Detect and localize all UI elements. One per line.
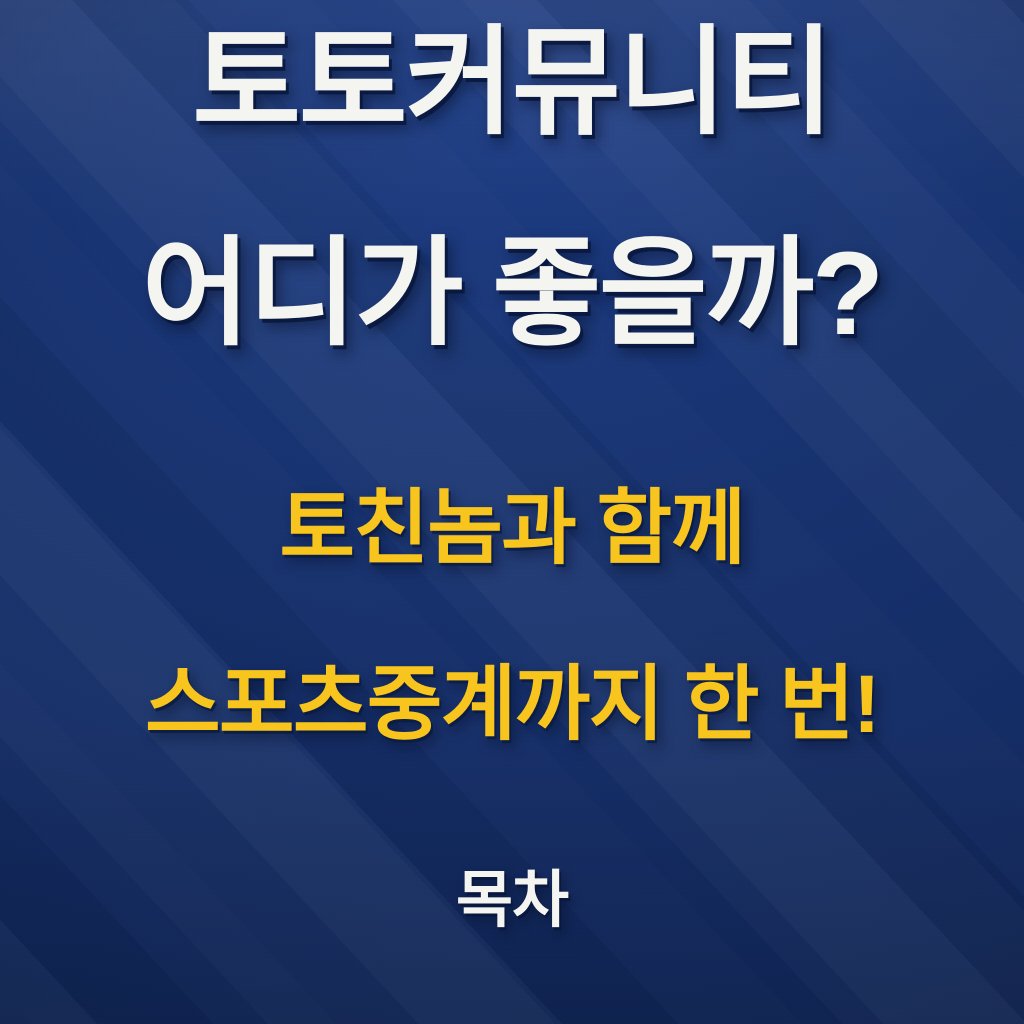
- headline-line-1: 토토커뮤니티: [0, 24, 1024, 142]
- subheadline-line-1: 토친놈과 함께: [0, 488, 1024, 570]
- headline-line-2: 어디가 좋을까?: [0, 235, 1024, 353]
- poster-content: 토토커뮤니티 어디가 좋을까? 토친놈과 함께 스포츠중계까지 한 번! 목차 …: [0, 0, 1024, 1024]
- promo-poster: 토토커뮤니티 어디가 좋을까? 토친놈과 함께 스포츠중계까지 한 번! 목차 …: [0, 0, 1024, 1024]
- table-of-contents-title: 목차: [0, 870, 1024, 932]
- subheadline-line-2: 스포츠중계까지 한 번!: [0, 664, 1024, 746]
